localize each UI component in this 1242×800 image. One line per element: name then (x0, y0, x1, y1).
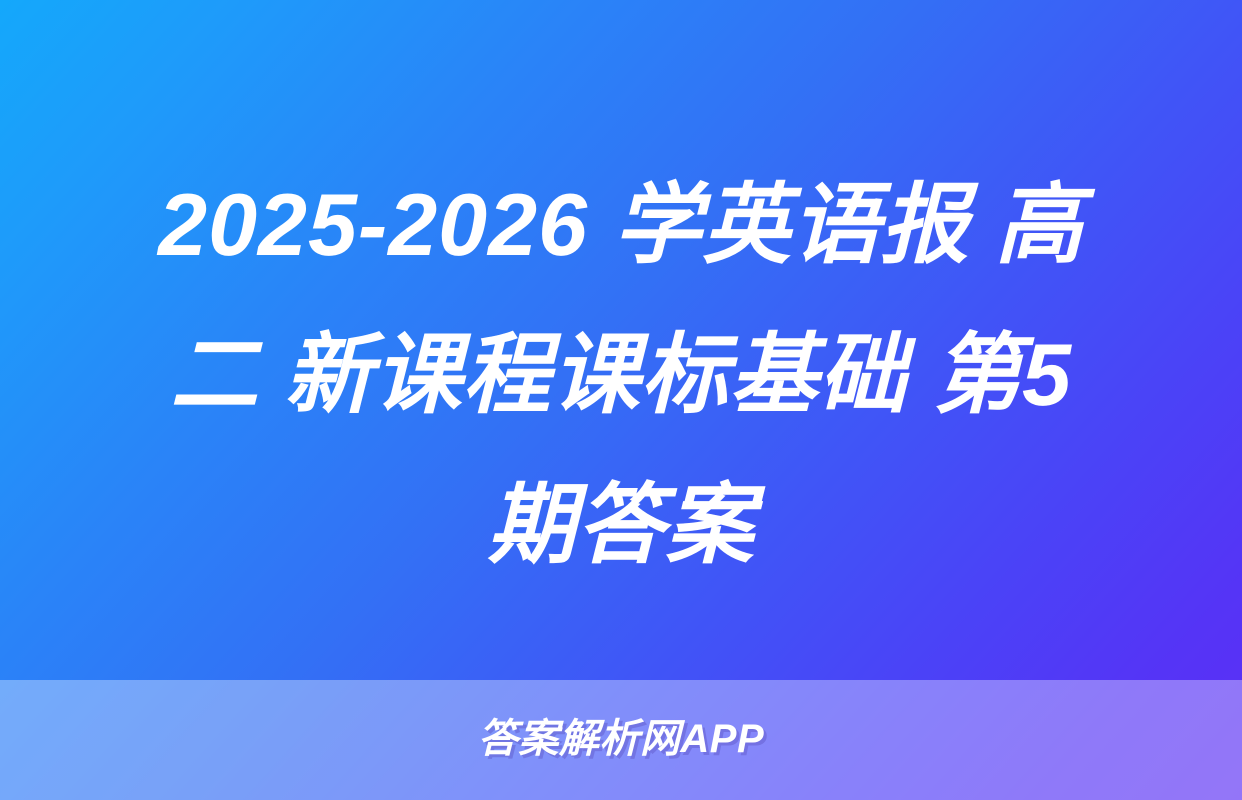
poster-title-line-3: 期答案 (36, 450, 1206, 600)
poster-title-line-2: 二 新课程课标基础 第5 (36, 300, 1206, 450)
poster-title-block: 2025-2026 学英语报 高 二 新课程课标基础 第5 期答案 (0, 150, 1242, 600)
promo-poster: 2025-2026 学英语报 高 二 新课程课标基础 第5 期答案 答案解析网A… (0, 0, 1242, 800)
poster-title-line-1: 2025-2026 学英语报 高 (36, 150, 1206, 300)
footer-brand-label: 答案解析网APP (478, 706, 764, 764)
footer-brand-band: 答案解析网APP (0, 680, 1242, 800)
